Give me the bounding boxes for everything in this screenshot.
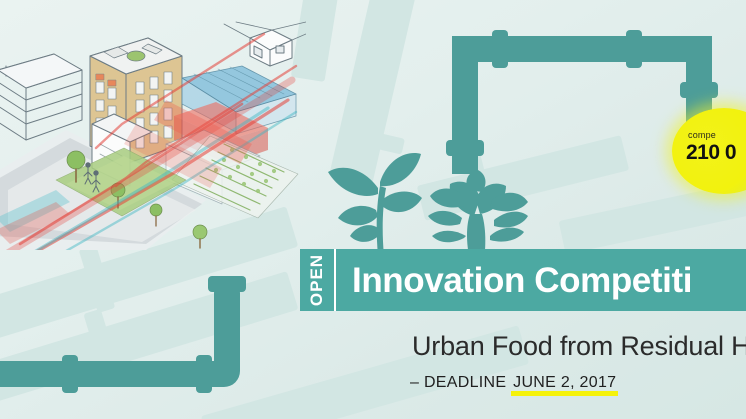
deadline-dash: – <box>410 374 419 391</box>
pipe-collar-e <box>62 355 78 393</box>
page-title: Innovation Competiti <box>352 263 692 298</box>
pipe-segment-vertical-up <box>214 280 240 370</box>
subtitle: Urban Food from Residual H <box>412 331 746 362</box>
deadline-prefix: DEADLINE <box>424 374 506 391</box>
banner-title-wrap: Innovation Competiti <box>336 249 746 311</box>
open-tag: OPEN <box>300 249 336 311</box>
prize-badge: compe 210 0 <box>672 108 746 194</box>
deadline-date: JUNE 2, 2017 <box>511 374 618 392</box>
pipe-collar-a <box>492 30 508 68</box>
seedling-plant-icon <box>326 136 422 265</box>
urban-building-illustration <box>0 4 306 250</box>
pipe-segment-horizontal-bottom <box>0 361 216 387</box>
deadline-line: – DEADLINE JUNE 2, 2017 <box>410 374 618 392</box>
pipe-collar-g <box>208 276 246 292</box>
pipe-collar-f <box>196 355 212 393</box>
badge-amount: 210 0 <box>686 141 736 165</box>
pipe-collar-d <box>446 140 484 156</box>
pipe-segment-horizontal-top <box>478 36 712 62</box>
pipe-collar-c <box>680 82 718 98</box>
pipe-collar-b <box>626 30 642 68</box>
open-tag-label: OPEN <box>307 254 327 306</box>
poster-canvas: compe 210 0 OPEN Innovation Competiti Ur… <box>0 0 746 419</box>
headline-banner: OPEN Innovation Competiti <box>300 249 746 311</box>
badge-label: compe <box>688 130 716 140</box>
